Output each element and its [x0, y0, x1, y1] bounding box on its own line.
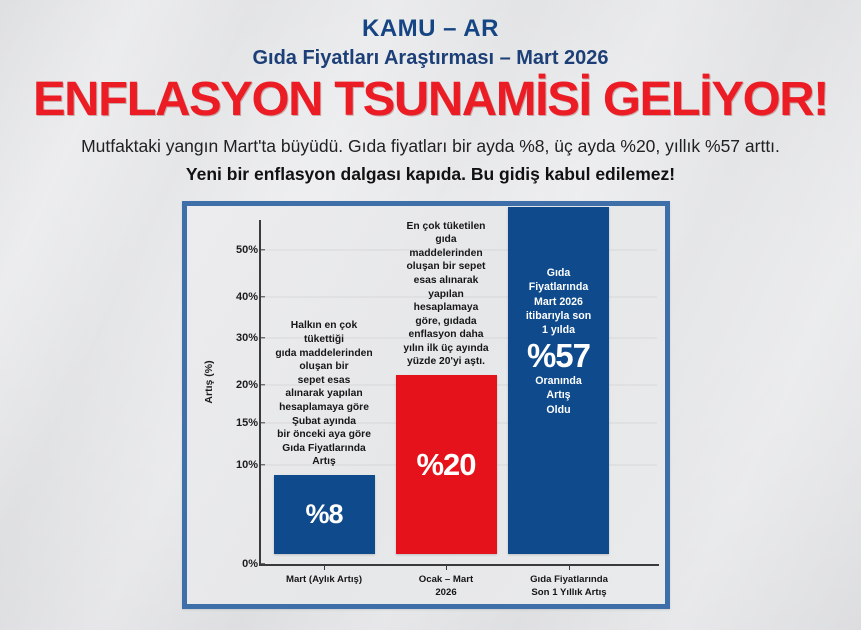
- bar[interactable]: %20: [396, 375, 497, 554]
- y-tick-label: 30%: [204, 332, 258, 344]
- bar-value-label: %20: [416, 449, 475, 480]
- x-tick-mark: [324, 564, 325, 570]
- bar-column[interactable]: En çok tüketilen gıda maddelerinden oluş…: [385, 220, 507, 554]
- chart-plot-area: Artış (%) 0%10%15%20%30%40%50% Halkın en…: [187, 206, 665, 604]
- y-tick-label: 10%: [204, 459, 258, 471]
- kicker-paragraph: Yeni bir enflasyon dalgası kapıda. Bu gi…: [0, 164, 861, 186]
- x-tick-mark: [446, 564, 447, 570]
- bar-inner-annotation-bottom: Oranında Artış Oldu: [535, 374, 582, 417]
- y-axis-line: [259, 220, 261, 566]
- bar[interactable]: Gıda Fiyatlarında Mart 2026 itibarıyla s…: [508, 207, 609, 554]
- bar-column[interactable]: Gıda Fiyatlarında Mart 2026 itibarıyla s…: [508, 207, 609, 554]
- bar-value-label: %8: [305, 501, 342, 528]
- y-tick-mark: [259, 563, 265, 564]
- lede-paragraph: Mutfaktaki yangın Mart'ta büyüdü. Gıda f…: [0, 136, 861, 158]
- bar-inner-annotation-top: Gıda Fiyatlarında Mart 2026 itibarıyla s…: [526, 266, 591, 337]
- poster-header: KAMU – AR Gıda Fiyatları Araştırması – M…: [0, 16, 861, 186]
- chart-frame: Artış (%) 0%10%15%20%30%40%50% Halkın en…: [182, 201, 670, 609]
- y-tick-mark: [259, 249, 265, 250]
- bar-annotation: En çok tüketilen gıda maddelerinden oluş…: [385, 220, 507, 369]
- y-tick-mark: [259, 296, 265, 297]
- x-tick-mark: [569, 564, 570, 570]
- y-tick-label: 40%: [204, 291, 258, 303]
- y-tick-label: 15%: [204, 417, 258, 429]
- x-axis-label: Gıda Fiyatlarında Son 1 Yıllık Artış: [494, 574, 644, 600]
- y-tick-label: 0%: [204, 558, 258, 570]
- bar-value-label: %57: [527, 339, 590, 372]
- bar-column[interactable]: Halkın en çok tükettiği gıda maddelerind…: [263, 319, 385, 554]
- report-subtitle: Gıda Fiyatları Araştırması – Mart 2026: [0, 46, 861, 70]
- x-axis-line: [259, 564, 659, 566]
- y-tick-label: 20%: [204, 379, 258, 391]
- y-tick-label: 50%: [204, 244, 258, 256]
- bar[interactable]: %8: [274, 475, 375, 554]
- brand-title: KAMU – AR: [0, 16, 861, 43]
- headline: ENFLASYON TSUNAMİSİ GELİYOR!: [0, 76, 861, 124]
- bar-annotation: Halkın en çok tükettiği gıda maddelerind…: [263, 319, 385, 468]
